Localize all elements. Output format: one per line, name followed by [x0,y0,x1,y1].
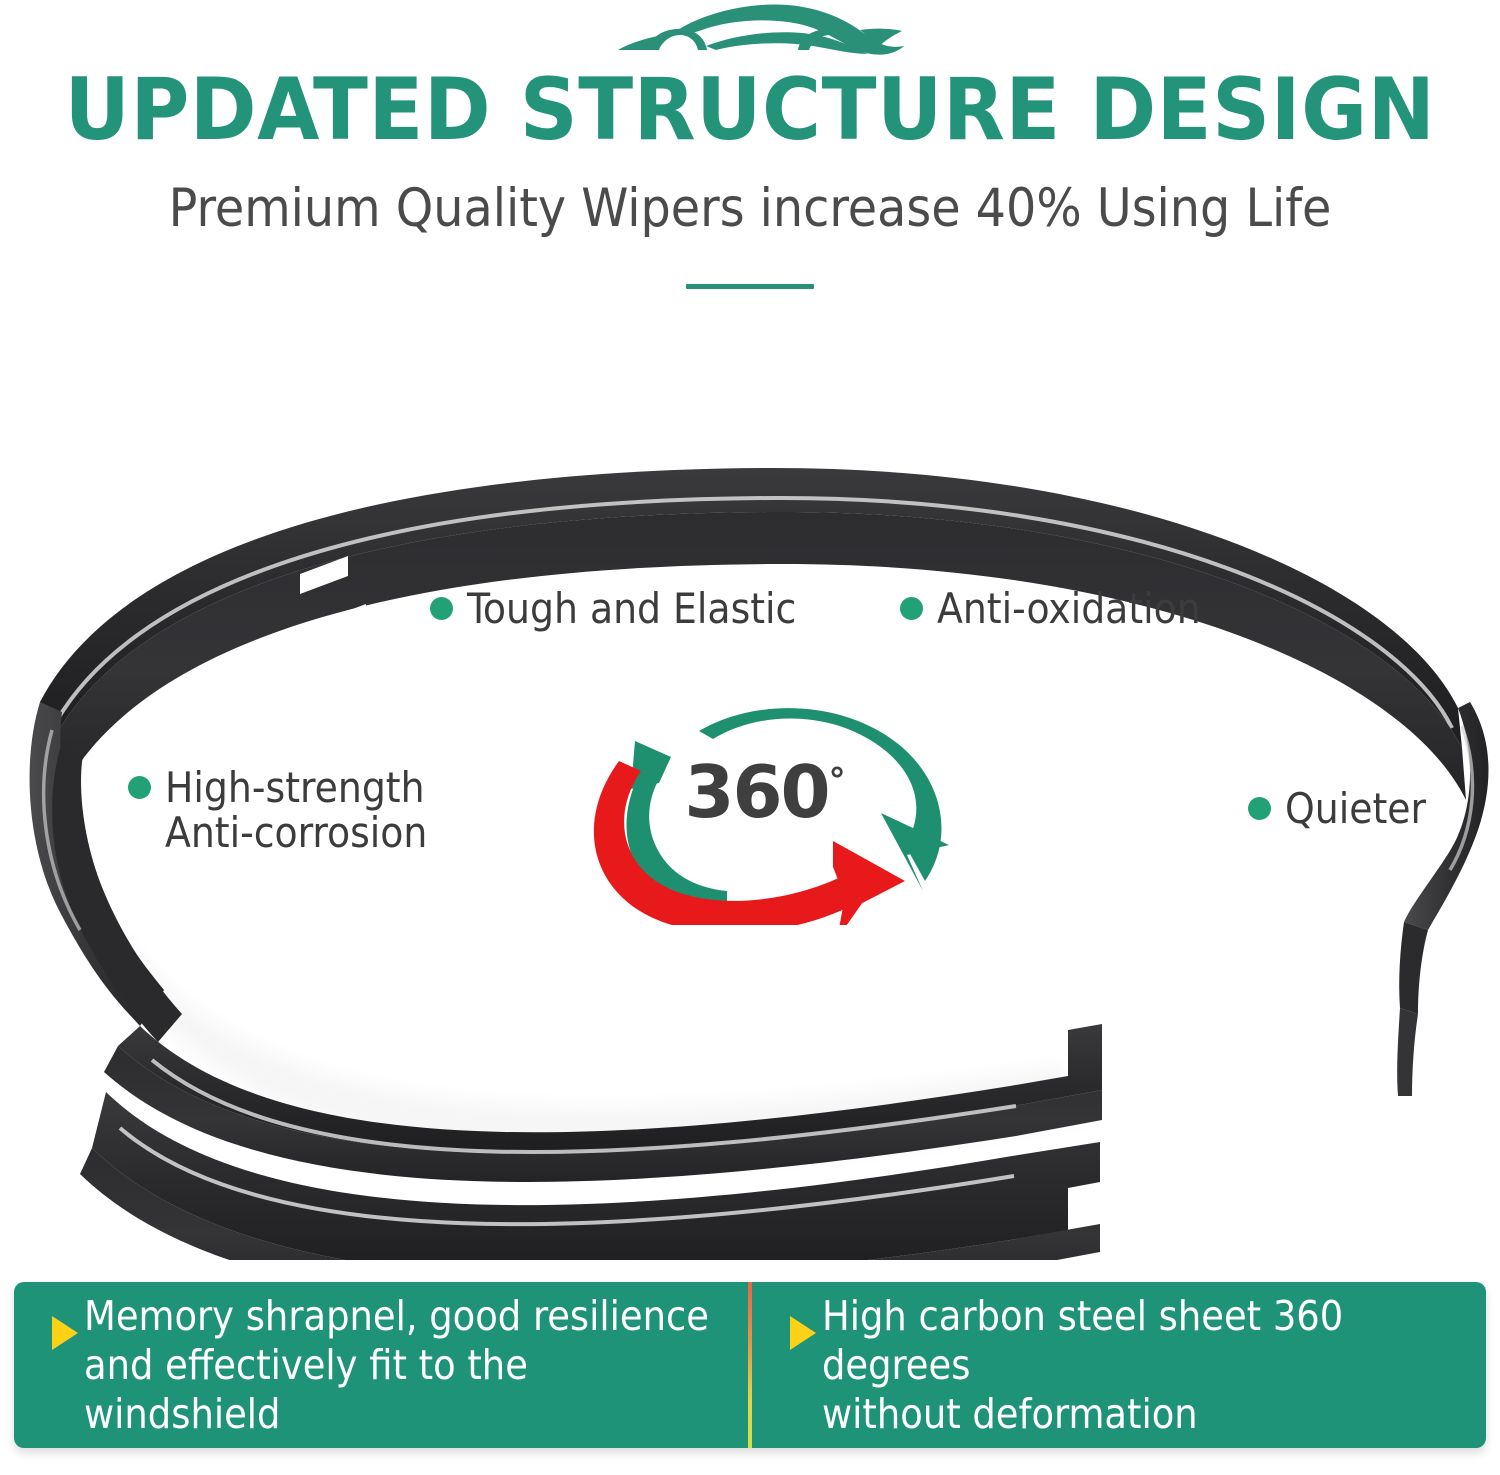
feature-label: Anti-oxidation [937,586,1201,631]
banner-memory-shrapnel: Memory shrapnel, good resilience and eff… [14,1282,748,1448]
triangle-right-icon [52,1316,78,1350]
feature-high-strength-anti-corrosion: High-strength Anti-corrosion [128,765,427,855]
feature-label: Quieter [1285,786,1426,831]
page-title: UPDATED STRUCTURE DESIGN [0,62,1500,158]
bullet-dot-icon [1248,797,1271,820]
badge-number: 360 [684,750,828,834]
bullet-dot-icon [128,776,151,799]
feature-label-line-2: Anti-corrosion [165,808,427,857]
feature-label-line-1: High-strength [165,763,425,812]
bullet-dot-icon [430,597,453,620]
car-silhouette-icon [610,2,910,64]
banner-text-line-2: and effectively fit to the windshield [84,1341,528,1438]
page-subtitle: Premium Quality Wipers increase 40% Usin… [0,178,1500,240]
banner-text: Memory shrapnel, good resilience and eff… [84,1292,722,1439]
feature-label-multiline: High-strength Anti-corrosion [165,765,427,855]
title-divider-rule [686,284,814,289]
banner-text-line-1: Memory shrapnel, good resilience [84,1292,709,1340]
banner-text-line-2: without deformation [822,1390,1198,1438]
triangle-right-icon [790,1316,816,1350]
badge-360-degree: 360° [575,695,955,925]
bullet-dot-icon [900,597,923,620]
degree-symbol-icon: ° [829,761,846,801]
feature-anti-oxidation: Anti-oxidation [900,586,1201,631]
banner-text: High carbon steel sheet 360 degrees with… [822,1292,1460,1439]
badge-360-value: 360° [575,743,955,830]
feature-tough-and-elastic: Tough and Elastic [430,586,796,631]
feature-quieter: Quieter [1248,786,1426,831]
infographic-page: UPDATED STRUCTURE DESIGN Premium Quality… [0,0,1500,1475]
banner-text-line-1: High carbon steel sheet 360 degrees [822,1292,1343,1389]
bottom-banner-row: Memory shrapnel, good resilience and eff… [14,1282,1486,1448]
feature-label: Tough and Elastic [467,586,796,631]
banner-high-carbon-steel: High carbon steel sheet 360 degrees with… [752,1282,1486,1448]
